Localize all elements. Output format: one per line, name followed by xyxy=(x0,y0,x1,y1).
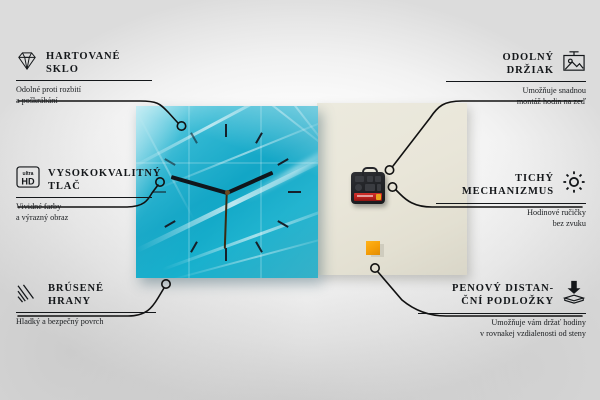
feature-header: BRÚSENÉ HRANY xyxy=(16,282,156,308)
feature-description: Hodinové ručičky bez zvuku xyxy=(436,207,586,229)
feature-desc-line1: Hladký a bezpečný povrch xyxy=(16,317,104,326)
feature-title: HARTOVANÉ SKLO xyxy=(46,50,120,76)
feature-header: HARTOVANÉ SKLO xyxy=(16,50,152,76)
feature-description: Vividné farby a výrazný obraz xyxy=(16,201,152,223)
feature-desc-line1: Umožňuje vám držať hodiny xyxy=(491,318,586,327)
feature-desc-line2: a poškrábání xyxy=(16,95,152,106)
feature-title-line1: TICHÝ xyxy=(515,173,554,184)
feature-title: PENOVÝ DISTAN- ČNÍ PODLOŽKY xyxy=(452,282,554,308)
feature-divider xyxy=(436,203,586,204)
feature-divider xyxy=(16,80,152,81)
mech-detail xyxy=(375,176,381,182)
feature-polished-edges: BRÚSENÉ HRANY Hladký a bezpečný povrch xyxy=(16,282,156,327)
svg-text:HD: HD xyxy=(21,176,35,186)
feature-description: Umožňuje snadnou montáž hodin na zeď xyxy=(446,85,586,107)
mech-detail xyxy=(367,176,373,182)
feature-divider xyxy=(16,312,156,313)
feature-title-line2: ČNÍ PODLOŽKY xyxy=(452,295,554,308)
mech-detail xyxy=(355,176,364,182)
mech-detail xyxy=(365,184,375,191)
feature-desc-line2: montáž hodin na zeď xyxy=(446,96,586,107)
feature-desc-line1: Hodinové ručičky xyxy=(527,208,586,217)
battery-label xyxy=(357,195,373,197)
battery-terminal xyxy=(376,194,381,200)
feature-durable-holder: ODOLNÝ DRŽIAK Umožňuje snadnou montáž ho… xyxy=(446,50,586,107)
feature-desc-line1: Vividné farby xyxy=(16,202,61,211)
foam-pad-icon xyxy=(562,280,586,309)
feature-high-quality-print: ultra HD VYSOKOKVALITNÝ TLAČ Vividné far… xyxy=(16,166,152,223)
feature-desc-line2: a výrazný obraz xyxy=(16,212,152,223)
feature-title-line1: BRÚSENÉ xyxy=(48,283,104,294)
wall-mount-icon xyxy=(562,50,586,77)
feature-divider xyxy=(446,81,586,82)
mech-detail xyxy=(355,184,362,191)
feature-divider xyxy=(418,313,586,314)
diamond-icon xyxy=(16,51,38,76)
feature-header: ODOLNÝ DRŽIAK xyxy=(446,50,586,77)
feature-description: Hladký a bezpečný povrch xyxy=(16,316,156,327)
ultra-hd-icon: ultra HD xyxy=(16,166,40,193)
quartz-mechanism xyxy=(351,172,385,204)
feature-title: VYSOKOKVALITNÝ TLAČ xyxy=(48,167,161,193)
tick-mark xyxy=(288,191,301,193)
feature-title-line2: TLAČ xyxy=(48,180,161,193)
feature-title-line2: SKLO xyxy=(46,63,120,76)
polished-edges-icon xyxy=(16,283,40,308)
feature-description: Odolné proti rozbití a poškrábání xyxy=(16,84,152,106)
gear-icon xyxy=(562,170,586,199)
feature-divider xyxy=(16,197,152,198)
feature-desc-line2: bez zvuku xyxy=(436,218,586,229)
battery xyxy=(354,193,382,201)
feature-title: TICHÝ MECHANIZMUS xyxy=(462,172,554,198)
feature-title-line2: DRŽIAK xyxy=(503,64,555,77)
feature-description: Umožňuje vám držať hodiny v rovnakej vzd… xyxy=(418,317,586,339)
feature-desc-line2: v rovnakej vzdialenosti od steny xyxy=(418,328,586,339)
foam-spacer-pad xyxy=(366,241,380,255)
feature-header: TICHÝ MECHANIZMUS xyxy=(436,170,586,199)
feature-title-line1: ODOLNÝ xyxy=(503,52,555,63)
feature-header: PENOVÝ DISTAN- ČNÍ PODLOŽKY xyxy=(418,280,586,309)
feature-title-line2: HRANY xyxy=(48,295,104,308)
feature-title-line1: PENOVÝ DISTAN- xyxy=(452,283,554,294)
feature-silent-mechanism: TICHÝ MECHANIZMUS Hodinové ručičky bez z… xyxy=(436,170,586,229)
feature-foam-spacers: PENOVÝ DISTAN- ČNÍ PODLOŽKY Umožňuje vám… xyxy=(418,280,586,339)
feature-desc-line1: Odolné proti rozbití xyxy=(16,85,81,94)
feature-title-line1: HARTOVANÉ xyxy=(46,51,120,62)
connector-node-edges xyxy=(162,280,170,288)
clock-face xyxy=(136,106,318,278)
feature-title: ODOLNÝ DRŽIAK xyxy=(503,51,555,77)
clock-hub xyxy=(225,190,230,195)
tick-mark xyxy=(225,248,227,261)
feature-title-line1: VYSOKOKVALITNÝ xyxy=(48,168,161,179)
feature-tempered-glass: HARTOVANÉ SKLO Odolné proti rozbití a po… xyxy=(16,50,152,106)
infographic-canvas: HARTOVANÉ SKLO Odolné proti rozbití a po… xyxy=(0,0,600,400)
tick-mark xyxy=(225,124,227,137)
feature-desc-line1: Umožňuje snadnou xyxy=(523,86,586,95)
feature-title-line2: MECHANIZMUS xyxy=(462,185,554,198)
feature-header: ultra HD VYSOKOKVALITNÝ TLAČ xyxy=(16,166,152,193)
feature-title: BRÚSENÉ HRANY xyxy=(48,282,104,308)
mech-detail xyxy=(377,184,381,191)
